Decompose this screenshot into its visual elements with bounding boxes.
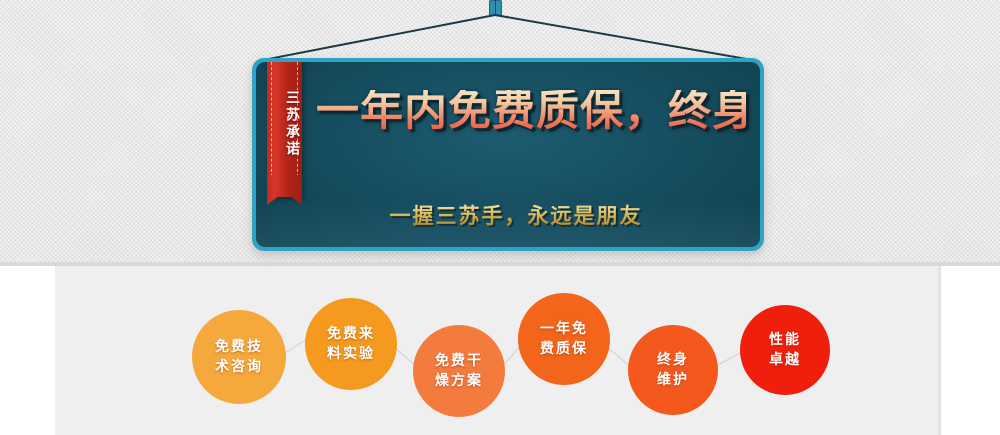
service-circle-label-line2: 术咨询 — [215, 357, 263, 377]
circle-connector-5 — [717, 352, 741, 366]
service-circle-label: 终身维护 — [657, 350, 689, 391]
service-circle-label-line2: 卓越 — [769, 350, 801, 370]
service-circle-label-line1: 免费干 — [435, 351, 483, 371]
hanger-wire-left — [258, 14, 495, 62]
service-circle-label: 一年免费质保 — [540, 319, 588, 360]
promo-banner-page: 三苏承诺 一年内免费质保，终身维护 一握三苏手，永远是朋友 免费技术咨询免费来料… — [0, 0, 1000, 435]
banner-inner-surface: 三苏承诺 一年内免费质保，终身维护 一握三苏手，永远是朋友 — [256, 62, 760, 247]
service-circle-label: 性能卓越 — [769, 330, 801, 371]
service-circle-6[interactable]: 性能卓越 — [740, 305, 830, 395]
service-circle-label: 免费干燥方案 — [435, 351, 483, 392]
service-circle-3[interactable]: 免费干燥方案 — [413, 325, 505, 417]
service-circle-label: 免费来料实验 — [327, 324, 375, 365]
circle-connector-3 — [504, 346, 521, 365]
service-circle-1[interactable]: 免费技术咨询 — [192, 310, 286, 404]
service-circle-2[interactable]: 免费来料实验 — [305, 298, 397, 390]
circle-connector-4 — [609, 348, 630, 366]
service-circle-label-line1: 免费来 — [327, 324, 375, 344]
ribbon-notch — [267, 175, 302, 205]
service-circle-label-line1: 性能 — [769, 330, 801, 350]
service-circle-label: 免费技术咨询 — [215, 337, 263, 378]
circle-connector-2 — [396, 348, 415, 365]
service-circle-label-line1: 一年免 — [540, 319, 588, 339]
service-circle-label-line2: 费质保 — [540, 339, 588, 359]
service-circle-label-line2: 燥方案 — [435, 371, 483, 391]
service-circle-4[interactable]: 一年免费质保 — [518, 293, 610, 385]
promise-banner: 三苏承诺 一年内免费质保，终身维护 一握三苏手，永远是朋友 — [252, 58, 764, 251]
service-circle-label-line1: 终身 — [657, 350, 689, 370]
ribbon-label: 三苏承诺 — [267, 66, 302, 178]
service-circle-label-line2: 料实验 — [327, 344, 375, 364]
service-circles-group: 免费技术咨询免费来料实验免费干燥方案一年免费质保终身维护性能卓越 — [0, 266, 1000, 435]
service-circle-label-line2: 维护 — [657, 370, 689, 390]
circle-connector-1 — [286, 339, 307, 353]
service-circle-label-line1: 免费技 — [215, 337, 263, 357]
hanger-wire-right — [495, 14, 758, 62]
banner-headline: 一年内免费质保，终身维护 — [316, 90, 746, 133]
banner-subtitle: 一握三苏手，永远是朋友 — [296, 200, 736, 230]
service-circle-5[interactable]: 终身维护 — [628, 325, 718, 415]
